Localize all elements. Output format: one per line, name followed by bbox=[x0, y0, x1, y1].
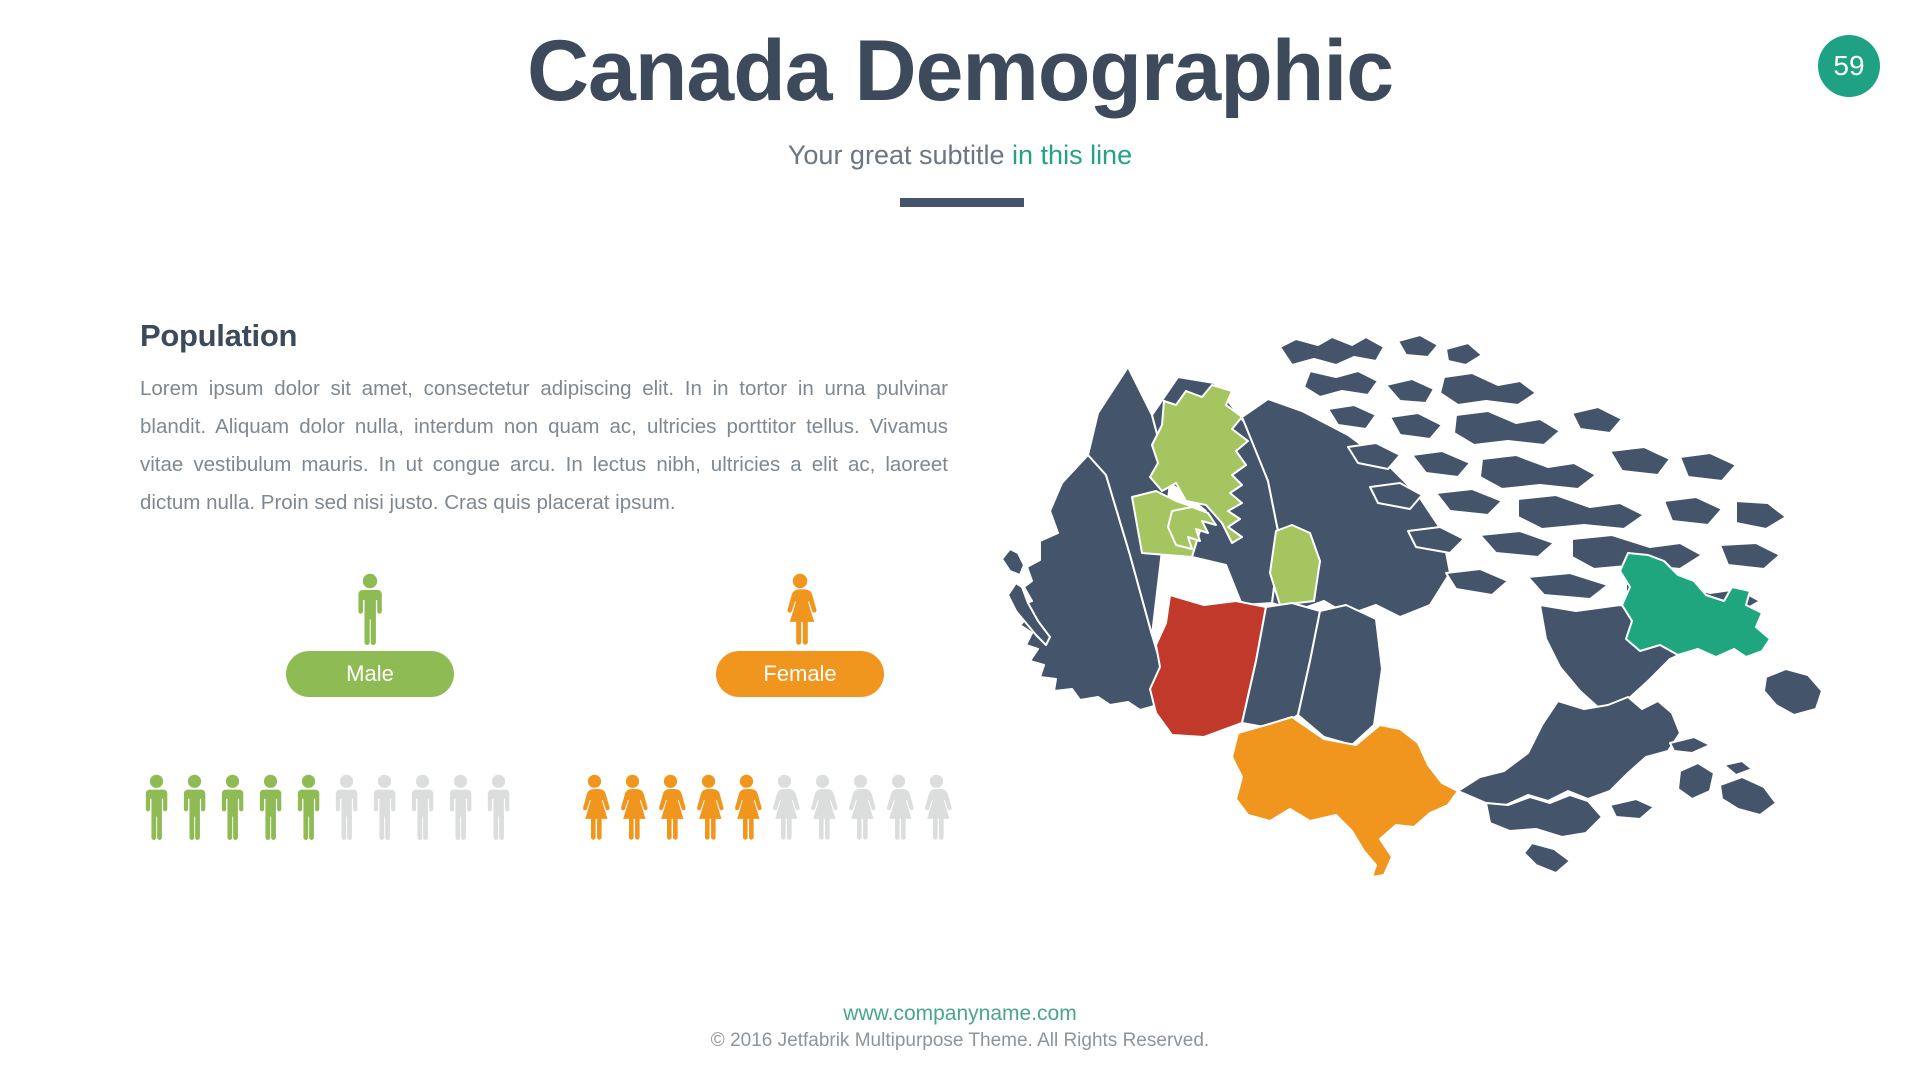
male-figure-icon-empty bbox=[444, 774, 477, 840]
map-island-gaspe bbox=[1610, 799, 1654, 819]
female-figure-icon-filled bbox=[616, 774, 649, 840]
female-figure-icon-empty bbox=[882, 774, 915, 840]
footer-copyright: © 2016 Jetfabrik Multipurpose Theme. All… bbox=[0, 1028, 1920, 1054]
male-pill-button[interactable]: Male bbox=[286, 651, 454, 697]
population-panel: Population Lorem ipsum dolor sit amet, c… bbox=[140, 318, 950, 522]
male-figure-icon-empty bbox=[482, 774, 515, 840]
footer-website-link[interactable]: www.companyname.com bbox=[0, 1000, 1920, 1028]
female-figure-icon-empty bbox=[806, 774, 839, 840]
panel-body-text: Lorem ipsum dolor sit amet, consectetur … bbox=[140, 370, 948, 522]
slide-canvas: Canada Demographic Your great subtitle i… bbox=[0, 0, 1920, 1080]
female-figure-icon-empty bbox=[920, 774, 953, 840]
subtitle-accent-text: in this line bbox=[1012, 140, 1132, 170]
title-underline-rule bbox=[900, 198, 1024, 207]
female-figure-icon bbox=[685, 570, 915, 645]
male-figure-icon-filled bbox=[216, 774, 249, 840]
female-figure-icon-filled bbox=[692, 774, 725, 840]
map-region-newfoundland-labrador bbox=[1620, 553, 1770, 657]
canada-map bbox=[980, 305, 1860, 885]
male-figure-icon-empty bbox=[368, 774, 401, 840]
male-figure-icon-filled bbox=[254, 774, 287, 840]
page-number-badge: 59 bbox=[1818, 35, 1880, 97]
female-figure-icon-filled bbox=[730, 774, 763, 840]
footer: www.companyname.com © 2016 Jetfabrik Mul… bbox=[0, 1000, 1920, 1054]
male-pictogram-row bbox=[140, 760, 520, 840]
female-legend-block[interactable]: Female bbox=[685, 570, 915, 697]
female-figure-icon-empty bbox=[844, 774, 877, 840]
male-figure-icon-filled bbox=[178, 774, 211, 840]
male-legend-block[interactable]: Male bbox=[255, 570, 485, 697]
map-island-pei bbox=[1724, 761, 1752, 775]
female-pictogram-row bbox=[578, 760, 958, 840]
female-figure-icon-empty bbox=[768, 774, 801, 840]
page-subtitle: Your great subtitle in this line bbox=[0, 140, 1920, 171]
page-title: Canada Demographic bbox=[0, 26, 1920, 116]
map-region-nova-scotia bbox=[1720, 777, 1776, 815]
male-figure-icon-empty bbox=[330, 774, 363, 840]
map-region-new-brunswick bbox=[1678, 763, 1714, 799]
female-figure-icon-filled bbox=[654, 774, 687, 840]
panel-heading: Population bbox=[140, 318, 950, 354]
map-island-newfoundland bbox=[1764, 669, 1822, 715]
female-figure-icon-filled bbox=[578, 774, 611, 840]
female-pill-button[interactable]: Female bbox=[716, 651, 884, 697]
gender-legend-row: Male Female bbox=[140, 570, 970, 710]
male-figure-icon-empty bbox=[406, 774, 439, 840]
male-figure-icon-filled bbox=[292, 774, 325, 840]
male-figure-icon-filled bbox=[140, 774, 173, 840]
map-region-quebec bbox=[1458, 697, 1680, 805]
map-island-haida-gwaii bbox=[1002, 549, 1024, 575]
map-coast-lower-stlawrence bbox=[1524, 843, 1570, 873]
male-figure-icon bbox=[255, 570, 485, 645]
subtitle-plain-text: Your great subtitle bbox=[788, 140, 1012, 170]
